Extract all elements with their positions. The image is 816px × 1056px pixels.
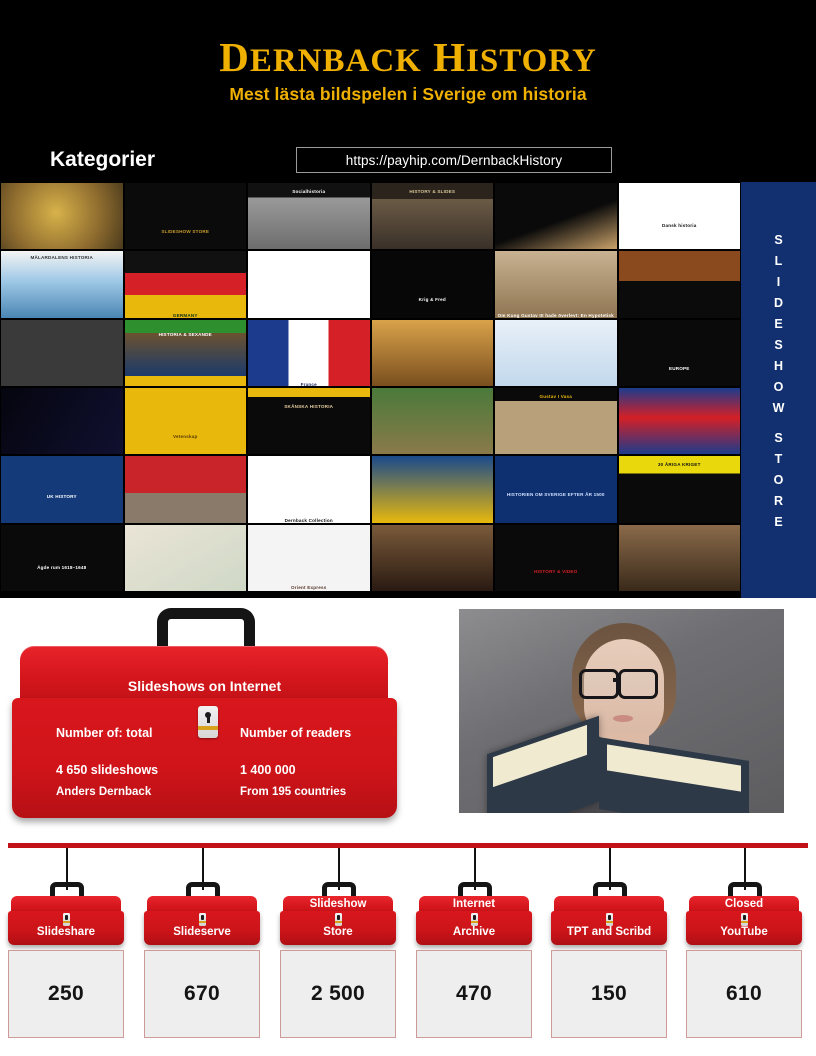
thumbnail-label: HISTORIA & SEXANDE (125, 332, 247, 338)
thumbnail-label: SKÅNSKA HISTORIA (248, 404, 370, 410)
thumbnail-socialhistoria[interactable]: Socialhistoria (247, 182, 371, 250)
platform-toolbox-slideshare[interactable]: Slideshare (8, 882, 124, 942)
thumbnail-london-bus[interactable] (124, 455, 248, 523)
thumbnail-uk-flag[interactable] (618, 387, 742, 455)
thumbnail-political-meeting[interactable] (618, 524, 742, 592)
thumbnail-dernback-collection-d[interactable]: Dernback Collection (247, 455, 371, 523)
poster-page: DERNBACK HISTORY Mest lästa bildspelen i… (0, 0, 816, 1056)
platform-label-line2: TPT and Scribd (551, 926, 667, 938)
toolbox-title: Slideshows on Internet (12, 678, 397, 694)
platform-breakdown-section: Slideshare250Slideserve670SlideshowStore… (0, 838, 816, 1056)
summary-section: Slideshows on Internet Number of: total … (0, 598, 816, 838)
thumbnail-dansk-historia[interactable]: Dansk historia (618, 182, 742, 250)
thumbnail-krig-och-fred[interactable]: Krig & Fred (371, 250, 495, 318)
thumbnail-germany-flag[interactable]: GERMANY (124, 250, 248, 318)
thumbnail-history-and-slides[interactable]: HISTORY & SLIDES (371, 182, 495, 250)
thumbnail-solar-system[interactable] (0, 387, 124, 455)
platform-toolbox-youtube[interactable]: ClosedYouTube (686, 882, 802, 942)
thumbnail-label: Orient Express (248, 585, 370, 591)
connector-rail (8, 843, 808, 848)
thumbnail-historien-om-sverige-efter-1500[interactable]: HISTORIEN OM SVERIGE EFTER ÅR 1500 (494, 455, 618, 523)
store-url-text: https://payhip.com/DernbackHistory (346, 153, 563, 168)
platform-count-store: 2 500 (280, 950, 396, 1038)
platform-toolbox-tpt-and-scribd[interactable]: TPT and Scribd (551, 882, 667, 942)
toolbox-right-value: 1 400 000 (240, 763, 296, 777)
thumbnail-gustav-i-vasa[interactable]: Gustav I Vasa (494, 387, 618, 455)
thumbnail-label: HISTORY & SLIDES (372, 189, 494, 195)
thumbnail-label: Ägde rum 1618–1648 (1, 565, 123, 571)
thumbnail-label: EUROPE (619, 366, 741, 372)
platform-label-line1: Closed (686, 898, 802, 910)
platform-label-line1: Internet (416, 898, 532, 910)
toolbox-author: Anders Dernback (56, 786, 151, 798)
thumbnail-vetenskap[interactable]: Vetenskap (124, 387, 248, 455)
thumbnail-historia-och-sexande[interactable]: HISTORIA & SEXANDE (124, 319, 248, 387)
thumbnail-label: Socialhistoria (248, 189, 370, 195)
lock-icon (335, 913, 342, 926)
thumbnail-skanska-historia[interactable]: SKÅNSKA HISTORIA (247, 387, 371, 455)
glasses-icon (579, 669, 619, 699)
thumbnail-stockholm-map[interactable] (124, 524, 248, 592)
platform-count-slideserve: 670 (144, 950, 260, 1038)
thumbnail-uk-history[interactable]: UK HISTORY (0, 455, 124, 523)
lock-icon (606, 913, 613, 926)
woman-reading-book-photo (459, 609, 784, 813)
thumbnail-label: MÄLARDALENS HISTORIA (1, 255, 123, 261)
platform-toolbox-store[interactable]: SlideshowStore (280, 882, 396, 942)
toolbox-left-value: 4 650 slideshows (56, 763, 158, 777)
toolbox-right-heading: Number of readers (240, 726, 351, 740)
page-subtitle: Mest lästa bildspelen i Sverige om histo… (0, 84, 816, 105)
thumbnail-label: HISTORIEN OM SVERIGE EFTER ÅR 1500 (495, 492, 617, 498)
thumbnail-europe-dark[interactable]: EUROPE (618, 319, 742, 387)
thumbnail-europe-map[interactable] (494, 319, 618, 387)
platform-toolbox-archive[interactable]: InternetArchive (416, 882, 532, 942)
lock-icon (741, 913, 748, 926)
thumbnail-label: 30 ÅRIGA KRIGET (619, 462, 741, 468)
thumbnail-history-and-video[interactable]: HISTORY & VIDEO (494, 524, 618, 592)
category-thumbnail-section: SLIDESHOW STORESocialhistoriaHISTORY & S… (0, 182, 816, 598)
platform-label-line2: Slideserve (144, 926, 260, 938)
platform-label-line2: YouTube (686, 926, 802, 938)
lock-icon (199, 913, 206, 926)
thumbnail-label: SLIDESHOW STORE (125, 229, 247, 235)
slideshow-store-sidebar[interactable]: SLIDESHOW STORE (741, 182, 816, 598)
thumbnail-speaking-voice-slide[interactable] (618, 250, 742, 318)
platform-label-line1: Slideshow (280, 898, 396, 910)
main-toolbox-graphic: Slideshows on Internet Number of: total … (12, 608, 397, 823)
title-word1-initial: D (219, 34, 250, 80)
thumbnail-label: Gustav I Vasa (495, 394, 617, 400)
toolbox-right-sub: From 195 countries (240, 786, 346, 798)
thumbnail-label: UK HISTORY (1, 494, 123, 500)
thumbnail-portrait-18th-century[interactable] (371, 524, 495, 592)
store-url-box[interactable]: https://payhip.com/DernbackHistory (296, 147, 612, 173)
thumbnail-us-presidents[interactable] (0, 319, 124, 387)
thumbnail-viking-portrait[interactable] (494, 182, 618, 250)
platform-label-line2: Slideshare (8, 926, 124, 938)
thumbnail-france-flag[interactable]: France (247, 319, 371, 387)
thumbnail-label: Dansk historia (619, 223, 741, 229)
thumbnail-30-ariga-kriget-sub[interactable]: Ägde rum 1618–1648 (0, 524, 124, 592)
thumbnail-globe-antique[interactable] (0, 182, 124, 250)
thumbnail-historien-om-sverige-efter-1500-cover[interactable] (371, 455, 495, 523)
thumbnail-label: Vetenskap (125, 434, 247, 440)
page-title: DERNBACK HISTORY (0, 33, 816, 81)
platform-label-line2: Store (280, 926, 396, 938)
platform-count-slideshare: 250 (8, 950, 124, 1038)
toolbox-left-heading: Number of: total (56, 726, 153, 740)
thumbnail-goteborgs-historia[interactable]: Göteborgs Historia (618, 594, 742, 596)
thumbnail-germany-map[interactable] (247, 250, 371, 318)
platform-count-youtube: 610 (686, 950, 802, 1038)
thumbnail-eiffel-tower[interactable] (371, 319, 495, 387)
thumbnail-30-ariga-kriget[interactable]: 30 ÅRIGA KRIGET (618, 455, 742, 523)
thumbnail-historien-om-sverige-fore-1500-cover[interactable] (371, 594, 495, 596)
platform-label-line2: Archive (416, 926, 532, 938)
platform-count-tpt-and-scribd: 150 (551, 950, 667, 1038)
categories-heading: Kategorier (50, 148, 155, 172)
platform-count-archive: 470 (416, 950, 532, 1038)
thumbnail-historien-om-sverige-fore-1500[interactable]: HISTORIEN OM SVERIGE FÖRE ÅR 1500 (494, 594, 618, 596)
thumbnail-label: Krig & Fred (372, 297, 494, 303)
header-banner: DERNBACK HISTORY Mest lästa bildspelen i… (0, 0, 816, 182)
thumbnail-grid: SLIDESHOW STORESocialhistoriaHISTORY & S… (0, 182, 741, 598)
toolbox-lid (20, 646, 388, 704)
title-word2-initial: H (433, 34, 466, 80)
thumbnail-label: HISTORY & VIDEO (495, 569, 617, 575)
lock-icon (471, 913, 478, 926)
thumbnail-australia-hat[interactable] (371, 387, 495, 455)
title-word2-rest: ISTORY (466, 43, 597, 79)
lock-icon (198, 706, 218, 738)
thumbnail-gustav-iii-court[interactable]: Om Kung Gustav III hade överlevt: En Hyp… (494, 250, 618, 318)
thumbnail-orient-express[interactable]: Orient Express (247, 524, 371, 592)
title-word1-rest: ERNBACK (250, 43, 422, 79)
platform-toolbox-slideserve[interactable]: Slideserve (144, 882, 260, 942)
thumbnail-malardalens-historia[interactable]: MÄLARDALENS HISTORIA (0, 250, 124, 318)
sidebar-line-2: STORE (741, 428, 816, 533)
sidebar-line-1: SLIDESHOW (741, 230, 816, 419)
thumbnail-slideshow-store-dark[interactable]: SLIDESHOW STORE (124, 182, 248, 250)
lock-icon (63, 913, 70, 926)
